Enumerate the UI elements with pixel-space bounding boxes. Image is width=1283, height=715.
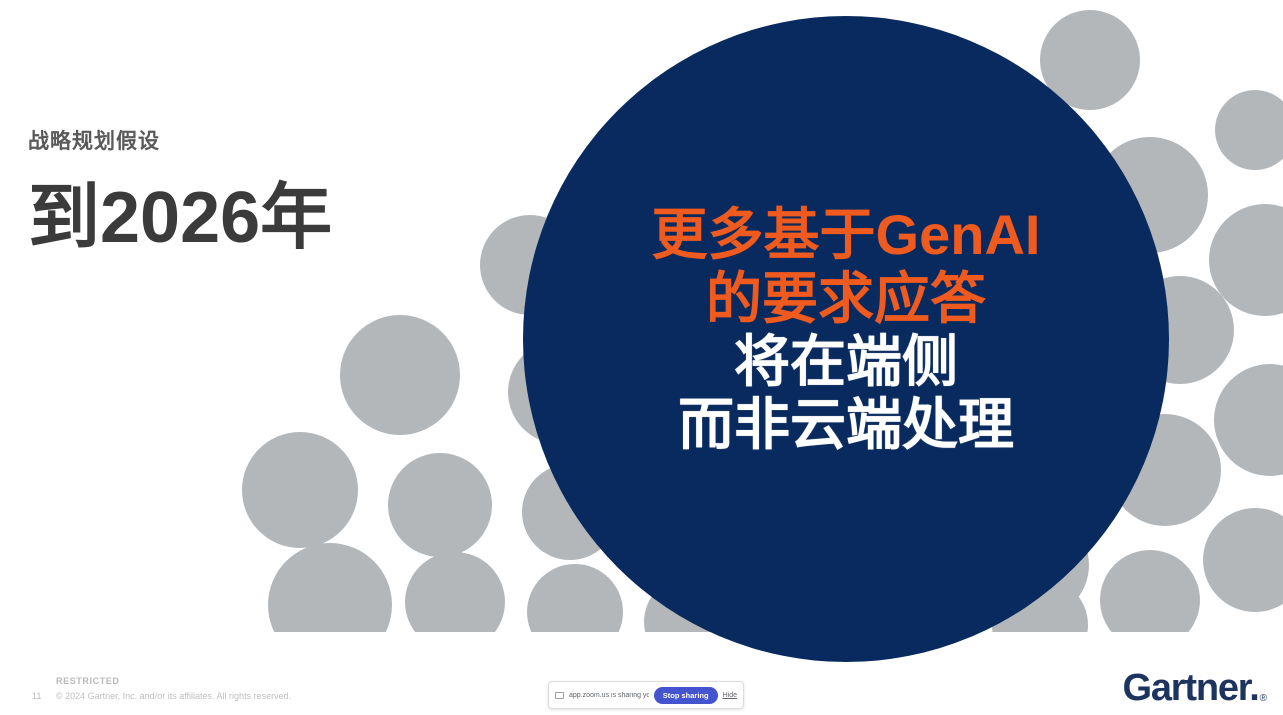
decorative-dot	[1100, 550, 1200, 650]
decorative-dot	[1215, 90, 1283, 170]
screen-icon	[555, 692, 564, 699]
decorative-dot	[388, 453, 492, 557]
registered-trademark-icon: ®	[1260, 693, 1267, 704]
eyebrow-label: 战略规划假设	[28, 125, 160, 155]
decorative-dot	[340, 315, 460, 435]
slide-canvas: 战略规划假设 到2026年 更多基于GenAI 的要求应答 将在端侧 而非云端处…	[0, 0, 1283, 715]
gartner-logo: Gartner. ®	[1122, 669, 1267, 707]
callout-circle: 更多基于GenAI 的要求应答 将在端侧 而非云端处理	[523, 16, 1169, 662]
page-number: 11	[32, 691, 41, 701]
decorative-dot	[1203, 508, 1283, 612]
screen-share-bar: app.zoom.us is sharing your screen. Stop…	[548, 681, 744, 709]
callout-line-4: 而非云端处理	[652, 393, 1041, 456]
stop-sharing-button[interactable]: Stop sharing	[654, 687, 718, 704]
decorative-dot	[1214, 364, 1283, 476]
callout-line-1: 更多基于GenAI	[652, 203, 1041, 266]
restricted-label: RESTRICTED	[56, 676, 120, 686]
hide-link[interactable]: Hide	[723, 692, 737, 699]
decorative-dot	[268, 543, 392, 667]
callout-line-2: 的要求应答	[652, 267, 1041, 330]
callout-line-3: 将在端侧	[652, 330, 1041, 393]
decorative-dot	[1209, 204, 1283, 316]
decorative-dot	[242, 432, 358, 548]
page-title: 到2026年	[28, 182, 332, 254]
decorative-dot	[405, 552, 505, 652]
callout-text-block: 更多基于GenAI 的要求应答 将在端侧 而非云端处理	[652, 203, 1041, 474]
share-status-text: app.zoom.us is sharing your screen.	[569, 692, 649, 699]
gartner-wordmark: Gartner.	[1122, 669, 1258, 707]
copyright-notice: © 2024 Gartner, Inc. and/or its affiliat…	[56, 691, 291, 701]
decorative-dot	[527, 564, 623, 660]
